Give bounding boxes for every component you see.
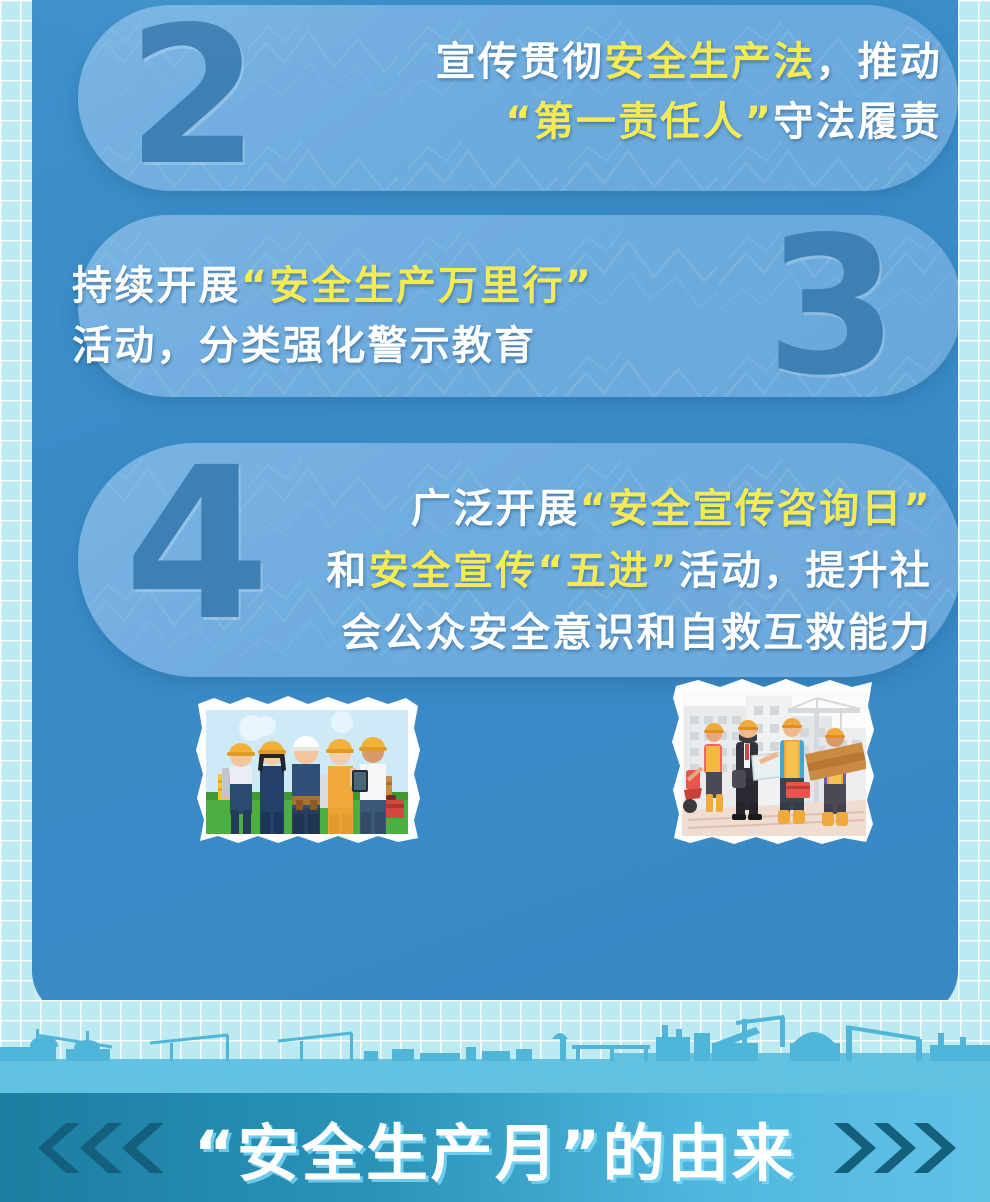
highlighted-phrase: 安全宣传“五进” [369,548,679,594]
construction-workers-group-illustration [192,688,424,848]
plain-phrase: 活动，分类强化警示教育 [72,323,536,369]
footer-banner: “安全生产月”的由来 [0,1093,990,1202]
footer-title: “安全生产月”的由来 [194,1103,796,1193]
measure-text-3: 持续开展“安全生产万里行”活动，分类强化警示教育 [72,256,812,376]
grid-rail-left [0,0,34,1093]
measure-text-2: 宣传贯彻安全生产法，推动“第一责任人”守法履责 [102,32,942,152]
plain-phrase: 会公众安全意识和自救互救能力 [341,610,932,656]
plain-phrase: 守法履责 [773,99,942,145]
plain-phrase: 持续开展 [72,263,241,309]
measure-text-line: “第一责任人”守法履责 [102,92,942,152]
construction-site-workers-illustration [668,672,880,850]
measure-text-4: 广泛开展“安全宣传咨询日”和安全宣传“五进”活动，提升社会公众安全意识和自救互救… [192,478,932,664]
plain-phrase: 广泛开展 [411,486,580,532]
industrial-skyline-silhouette [0,1013,990,1093]
measure-text-line: 持续开展“安全生产万里行” [72,256,812,316]
highlighted-phrase: “第一责任人” [505,99,773,145]
plain-phrase: 活动，提升社 [679,548,932,594]
main-blue-card: 1 2 3 4 实安全生产十五条措施 宣传贯彻安全生产法，推动“第一责任人”守法… [32,0,958,1017]
chevron-left-triple-icon [22,1121,172,1175]
grid-rail-right [958,0,990,1093]
plain-phrase: 和 [326,548,368,594]
plain-phrase: ，推动 [815,39,942,85]
measure-text-line: 活动，分类强化警示教育 [72,316,812,376]
chevron-right-triple-icon [830,1121,960,1175]
poster-root: 1 2 3 4 实安全生产十五条措施 宣传贯彻安全生产法，推动“第一责任人”守法… [0,0,990,1202]
measure-text-line: 会公众安全意识和自救互救能力 [192,602,932,664]
measure-text-line: 和安全宣传“五进”活动，提升社 [192,540,932,602]
bottom-grid-band [0,1000,990,1093]
highlighted-phrase: “安全生产万里行” [241,263,593,309]
measure-text-line: 宣传贯彻安全生产法，推动 [102,32,942,92]
highlighted-phrase: “安全宣传咨询日” [580,486,932,532]
highlighted-phrase: 安全生产法 [604,39,815,85]
measure-text-line: 广泛开展“安全宣传咨询日” [192,478,932,540]
plain-phrase: 宣传贯彻 [436,39,605,85]
